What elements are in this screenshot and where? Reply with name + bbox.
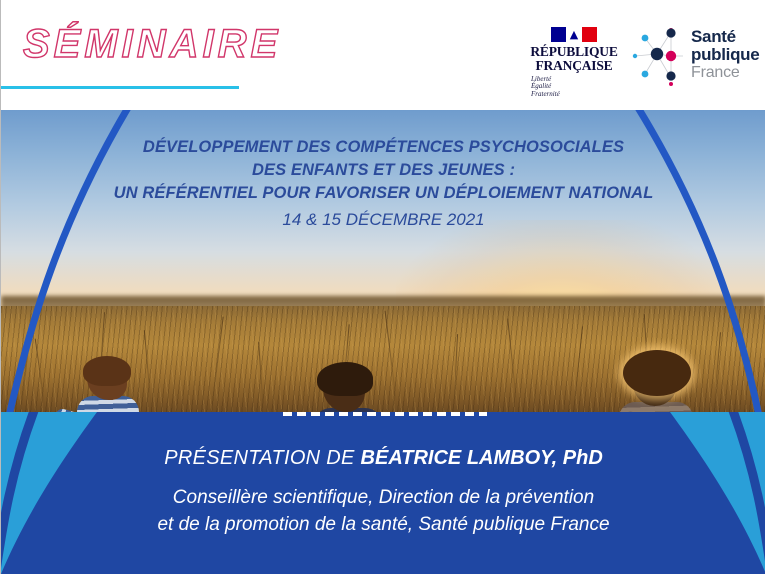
spf-line1: Santé [691, 28, 759, 46]
hero-title: DÉVELOPPEMENT DES COMPÉTENCES PSYCHOSOCI… [1, 136, 765, 205]
republique-francaise-logo: ▲ RÉPUBLIQUE FRANÇAISE Liberté Égalité F… [529, 27, 619, 98]
spf-line3: France [691, 64, 759, 82]
hero-title-line-3: UN RÉFÉRENTIEL POUR FAVORISER UN DÉPLOIE… [1, 182, 765, 205]
presentation-slide: SÉMINAIRE ▲ RÉPUBLIQUE FRANÇAISE Liberté… [0, 0, 765, 574]
hero-title-line-1: DÉVELOPPEMENT DES COMPÉTENCES PSYCHOSOCI… [1, 136, 765, 159]
hero-title-line-2: DES ENFANTS ET DES JEUNES : [1, 159, 765, 182]
child-running-right [605, 358, 725, 412]
marianne-icon: ▲ [564, 28, 584, 41]
presentation-prefix: PRÉSENTATION DE [164, 447, 360, 469]
presenter-band: PRÉSENTATION DE BÉATRICE LAMBOY, PhD Con… [1, 412, 765, 574]
header-accent-rule [1, 86, 239, 89]
child-running-center [301, 368, 411, 412]
presenter-name: BÉATRICE LAMBOY, PhD [361, 447, 603, 469]
role-line-1: Conseillère scientifique, Direction de l… [1, 484, 765, 511]
slide-header: SÉMINAIRE ▲ RÉPUBLIQUE FRANÇAISE Liberté… [1, 0, 765, 110]
presenter-role: Conseillère scientifique, Direction de l… [1, 484, 765, 538]
network-dots-icon [631, 26, 689, 88]
hero-photo: DÉVELOPPEMENT DES COMPÉTENCES PSYCHOSOCI… [1, 110, 765, 412]
republique-line2: FRANÇAISE [529, 59, 619, 73]
child-running-left [59, 360, 159, 412]
motto-fraternite: Fraternité [531, 91, 619, 98]
republique-line1: RÉPUBLIQUE [529, 45, 619, 59]
role-line-2: et de la promotion de la santé, Santé pu… [1, 511, 765, 538]
republique-motto: Liberté Égalité Fraternité [529, 76, 619, 98]
spf-line2: publique [691, 46, 759, 64]
event-date: 14 & 15 DÉCEMBRE 2021 [1, 210, 765, 230]
sante-publique-france-logo: Santé publique France [631, 26, 759, 88]
dashed-divider [283, 412, 487, 416]
seminar-title: SÉMINAIRE [23, 24, 281, 64]
presenter-line: PRÉSENTATION DE BÉATRICE LAMBOY, PhD [1, 446, 765, 470]
french-flag-icon: ▲ [551, 27, 597, 42]
